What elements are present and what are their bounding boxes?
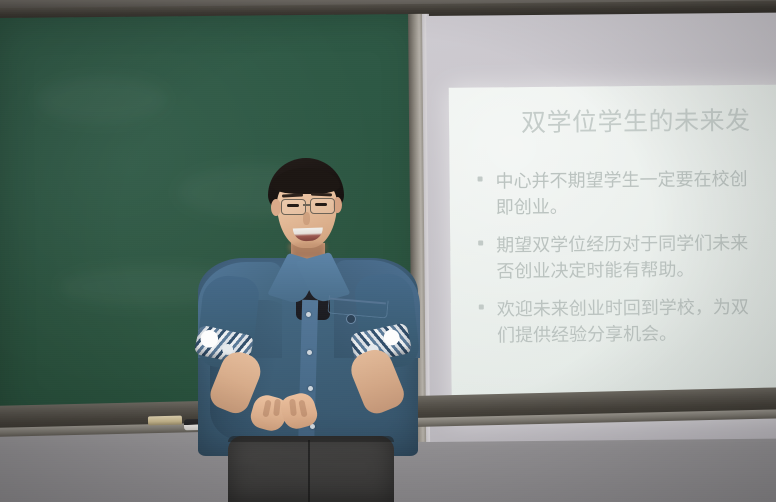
eyeglasses-bridge <box>303 204 311 206</box>
shirt-pocket-logo-icon <box>346 314 356 324</box>
eyeglasses-lens-right <box>310 198 335 214</box>
shirt-button <box>308 386 313 391</box>
presenter-eye-right <box>315 203 327 206</box>
presenter-nose <box>303 212 310 225</box>
presenter-waistband <box>228 436 394 442</box>
presenter-eye-left <box>287 204 299 207</box>
shirt-button <box>306 312 311 317</box>
trouser-seam <box>308 440 310 502</box>
eyeglasses-lens-left <box>281 199 306 215</box>
presenter-ear-left <box>271 199 281 216</box>
presenter-figure <box>0 0 776 502</box>
presenter-chin-shadow <box>288 242 326 252</box>
classroom-photo-scene: 双学位学生的未来发 中心并不期望学生一定要在校创 即创业。 期望双学位经历对于同… <box>0 0 776 502</box>
shirt-button <box>307 350 312 355</box>
presenter-trousers <box>228 436 394 502</box>
